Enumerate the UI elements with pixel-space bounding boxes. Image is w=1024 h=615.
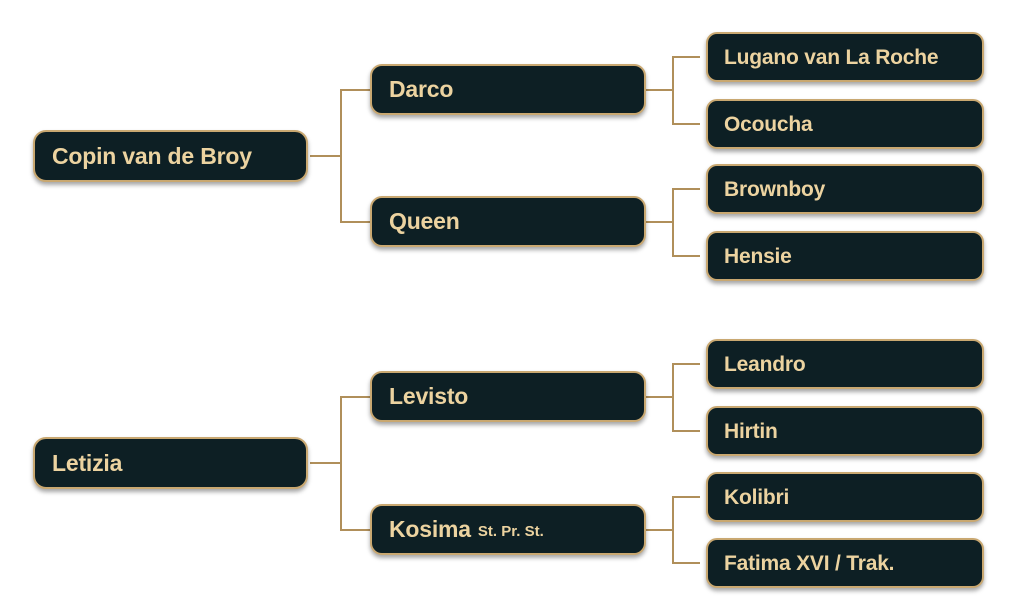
connector-to-darco xyxy=(340,89,372,91)
node-label: Kosima xyxy=(389,518,471,541)
node-label: Hensie xyxy=(724,246,792,267)
connector-bracket-vertical-darco xyxy=(672,56,674,124)
connector-bracket-vertical-kosima xyxy=(672,496,674,564)
node-label: Letizia xyxy=(52,452,122,475)
connector-to-kosima xyxy=(340,529,372,531)
node-label: Copin van de Broy xyxy=(52,145,252,168)
connector-to-ocoucha xyxy=(672,123,700,125)
connector-to-brownboy xyxy=(672,188,700,190)
node-dam-gen3-4[interactable]: Fatima XVI / Trak. xyxy=(706,538,984,588)
node-dam-gen3-1[interactable]: Leandro xyxy=(706,339,984,389)
pedigree-chart: Copin van de Broy Darco Queen Lugano van… xyxy=(0,0,1024,615)
node-sire-gen3-3[interactable]: Brownboy xyxy=(706,164,984,214)
connector-to-leandro xyxy=(672,363,700,365)
node-label: Leandro xyxy=(724,354,805,375)
node-sire-gen2-1[interactable]: Darco xyxy=(370,64,646,115)
connector-bracket-vertical-queen xyxy=(672,188,674,256)
node-label: Kolibri xyxy=(724,487,789,508)
node-sire-gen3-1[interactable]: Lugano van La Roche xyxy=(706,32,984,82)
node-dam-gen2-1[interactable]: Levisto xyxy=(370,371,646,422)
node-label: Brownboy xyxy=(724,179,825,200)
node-label: Levisto xyxy=(389,385,468,408)
connector-root-stub-top xyxy=(310,155,342,157)
connector-to-queen xyxy=(340,221,372,223)
node-label: Fatima XVI / Trak. xyxy=(724,553,894,574)
connector-bracket-vertical-top xyxy=(340,89,342,223)
node-dam-gen3-3[interactable]: Kolibri xyxy=(706,472,984,522)
connector-to-hensie xyxy=(672,255,700,257)
node-label: Queen xyxy=(389,210,460,233)
node-dam-root[interactable]: Letizia xyxy=(33,437,308,489)
connector-kosima-stub xyxy=(646,529,674,531)
connector-to-levisto xyxy=(340,396,372,398)
node-sire-gen3-2[interactable]: Ocoucha xyxy=(706,99,984,149)
connector-to-lugano xyxy=(672,56,700,58)
node-sire-gen2-2[interactable]: Queen xyxy=(370,196,646,247)
connector-to-kolibri xyxy=(672,496,700,498)
connector-to-fatima xyxy=(672,562,700,564)
node-sire-gen3-4[interactable]: Hensie xyxy=(706,231,984,281)
connector-queen-stub xyxy=(646,221,674,223)
connector-root-stub-bottom xyxy=(310,462,342,464)
node-label: Darco xyxy=(389,78,453,101)
node-dam-gen2-2[interactable]: Kosima St. Pr. St. xyxy=(370,504,646,555)
node-label: Lugano van La Roche xyxy=(724,47,938,68)
connector-to-hirtin xyxy=(672,430,700,432)
connector-bracket-vertical-levisto xyxy=(672,363,674,431)
connector-bracket-vertical-bottom xyxy=(340,396,342,530)
connector-darco-stub xyxy=(646,89,674,91)
node-sire-root[interactable]: Copin van de Broy xyxy=(33,130,308,182)
connector-levisto-stub xyxy=(646,396,674,398)
node-label-suffix: St. Pr. St. xyxy=(478,524,544,539)
node-label: Hirtin xyxy=(724,421,778,442)
node-label: Ocoucha xyxy=(724,114,812,135)
node-dam-gen3-2[interactable]: Hirtin xyxy=(706,406,984,456)
